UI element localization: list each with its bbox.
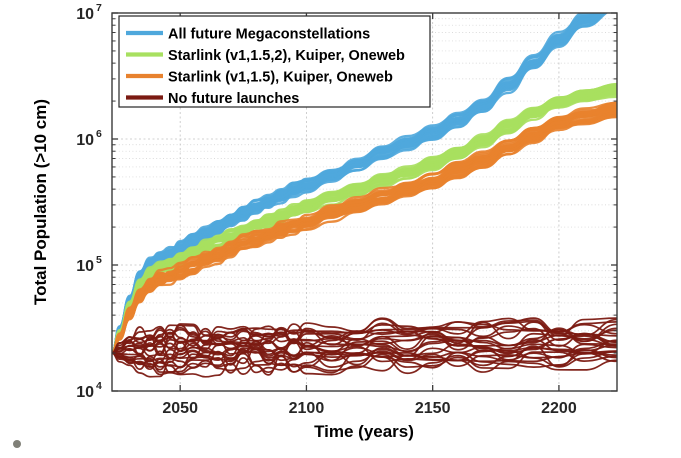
y-tick-label: 10 (76, 132, 94, 149)
y-tick-exponent: 6 (96, 128, 102, 140)
y-axis-label: Total Population (>10 cm) (31, 99, 50, 305)
legend[interactable]: All future MegaconstellationsStarlink (v… (119, 16, 430, 107)
x-tick-label: 2150 (415, 400, 451, 417)
legend-item-label: No future launches (168, 91, 299, 107)
population-growth-chart: 2050210021502200 104105106107 Time (year… (0, 0, 681, 458)
legend-item-label: Starlink (v1,1.5,2), Kuiper, Oneweb (168, 48, 405, 64)
corner-dot (13, 440, 21, 448)
y-tick-label: 10 (76, 384, 94, 401)
x-tick-label: 2100 (289, 400, 325, 417)
y-tick-exponent: 4 (96, 380, 102, 392)
legend-item-label: All future Megaconstellations (168, 27, 370, 43)
y-tick-exponent: 7 (96, 2, 102, 14)
y-tick-label: 10 (76, 258, 94, 275)
y-tick-label: 10 (76, 6, 94, 23)
x-tick-label: 2200 (541, 400, 577, 417)
legend-item-label: Starlink (v1,1.5), Kuiper, Oneweb (168, 70, 393, 86)
x-tick-label: 2050 (162, 400, 198, 417)
y-tick-exponent: 5 (96, 254, 102, 266)
x-axis-label: Time (years) (314, 422, 414, 441)
